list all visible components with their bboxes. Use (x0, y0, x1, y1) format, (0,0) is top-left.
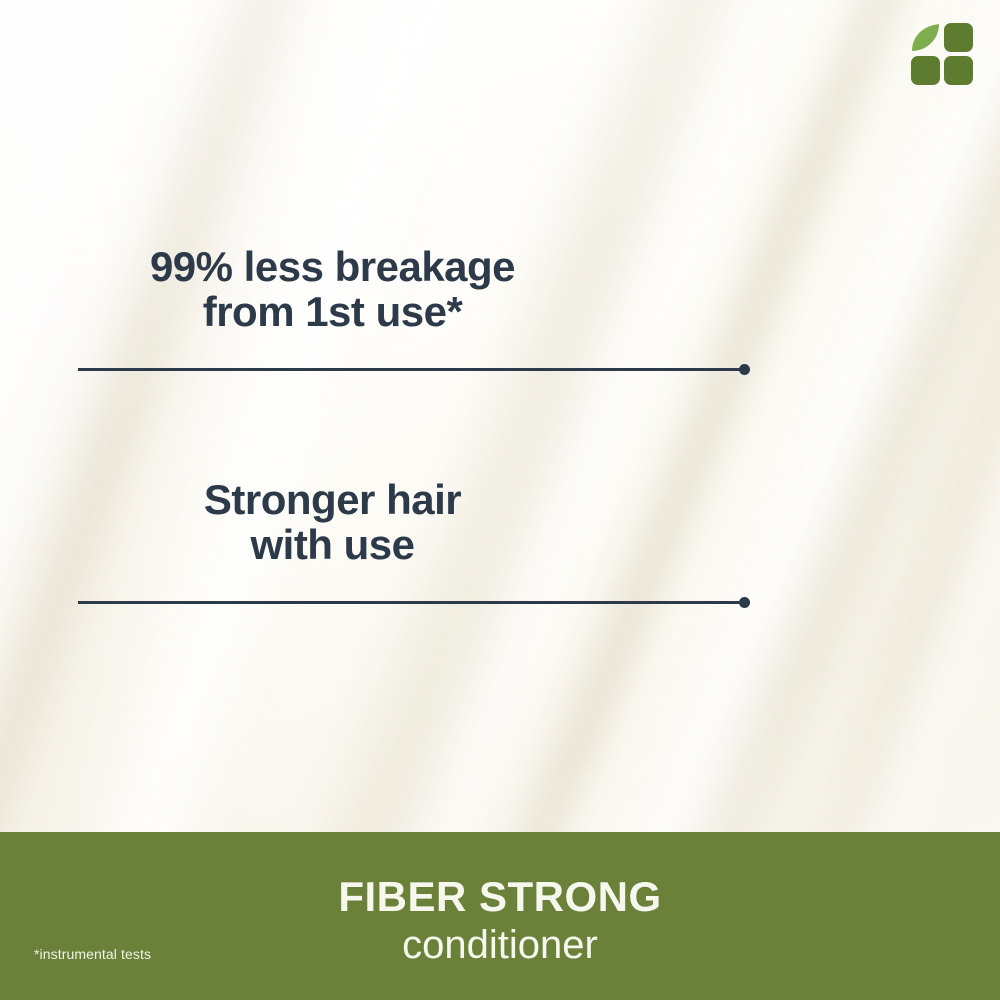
product-banner: FIBER STRONG conditioner *instrumental t… (0, 832, 1000, 1000)
claim-rule-1 (78, 368, 746, 371)
claim-block-1: 99% less breakage from 1st use* (0, 245, 665, 335)
rule-bar (78, 601, 746, 604)
product-name: FIBER STRONG (0, 876, 1000, 918)
brand-logo (906, 18, 978, 90)
logo-tile-bottom-left (911, 56, 940, 85)
rule-end-dot-icon (739, 364, 750, 375)
leaf-quad-logo-icon (906, 18, 978, 90)
footnote-text: *instrumental tests (34, 946, 151, 962)
claim-block-2: Stronger hair with use (0, 478, 665, 568)
claim-text-2: Stronger hair with use (0, 478, 665, 568)
claim-text-1: 99% less breakage from 1st use* (0, 245, 665, 335)
logo-tile-bottom-right (944, 56, 973, 85)
rule-bar (78, 368, 746, 371)
rule-end-dot-icon (739, 597, 750, 608)
claim-rule-2 (78, 601, 746, 604)
product-claim-poster: 99% less breakage from 1st use* Stronger… (0, 0, 1000, 1000)
leaf-icon (912, 24, 939, 51)
logo-tile-top-right (944, 23, 973, 52)
